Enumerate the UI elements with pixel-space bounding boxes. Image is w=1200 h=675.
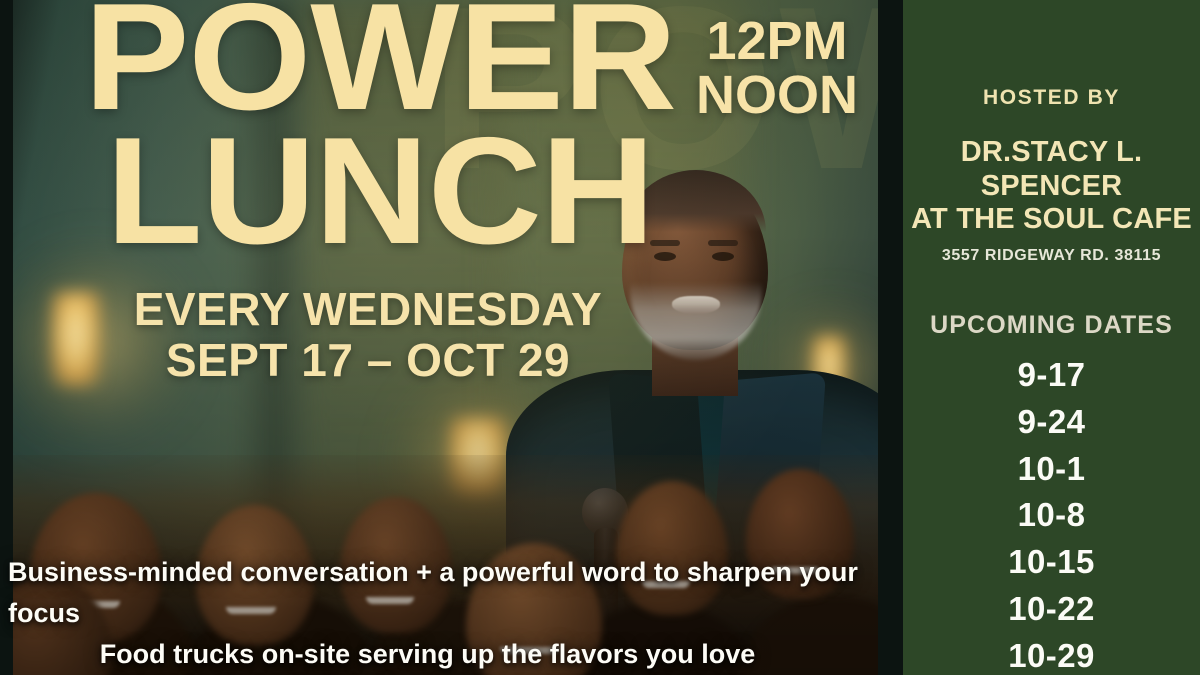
upcoming-dates-list: 9-17 9-24 10-1 10-8 10-15 10-22 10-29 [903,352,1200,675]
date-item: 10-29 [903,633,1200,675]
headline-line-2: LUNCH [0,122,775,262]
date-item: 9-17 [903,352,1200,399]
host-name: DR.STACY L. SPENCER AT THE SOUL CAFE [903,136,1200,237]
subheadline-line-1: EVERY WEDNESDAY [0,286,736,333]
detail-line-1: Business-minded conversation + a powerfu… [0,552,903,634]
main-headline: POWER LUNCH [0,0,760,262]
time-line-1: 12PM [672,14,882,68]
event-flyer: POWER [0,0,1200,675]
date-item: 10-8 [903,492,1200,539]
subheadline-line-2: SEPT 17 – OCT 29 [0,337,736,384]
info-panel-content: HOSTED BY DR.STACY L. SPENCER AT THE SOU… [903,0,1200,675]
detail-line-2: Food trucks on-site serving up the flavo… [0,634,903,675]
host-name-line-1: DR.STACY L. SPENCER [961,136,1143,202]
date-item: 10-1 [903,446,1200,493]
date-item: 9-24 [903,399,1200,446]
hosted-by-label: HOSTED BY [903,86,1200,110]
event-details-list: Business-minded conversation + a powerfu… [0,552,903,675]
upcoming-dates-title: UPCOMING DATES [903,311,1200,340]
sub-headline: EVERY WEDNESDAY SEPT 17 – OCT 29 [0,286,736,384]
venue-address: 3557 RIDGEWAY RD. 38115 [903,247,1200,265]
info-panel: HOSTED BY DR.STACY L. SPENCER AT THE SOU… [903,0,1200,675]
time-line-2: NOON [672,68,882,122]
event-time: 12PM NOON [672,14,882,122]
date-item: 10-15 [903,539,1200,586]
host-name-line-2: AT THE SOUL CAFE [909,203,1194,237]
date-item: 10-22 [903,586,1200,633]
